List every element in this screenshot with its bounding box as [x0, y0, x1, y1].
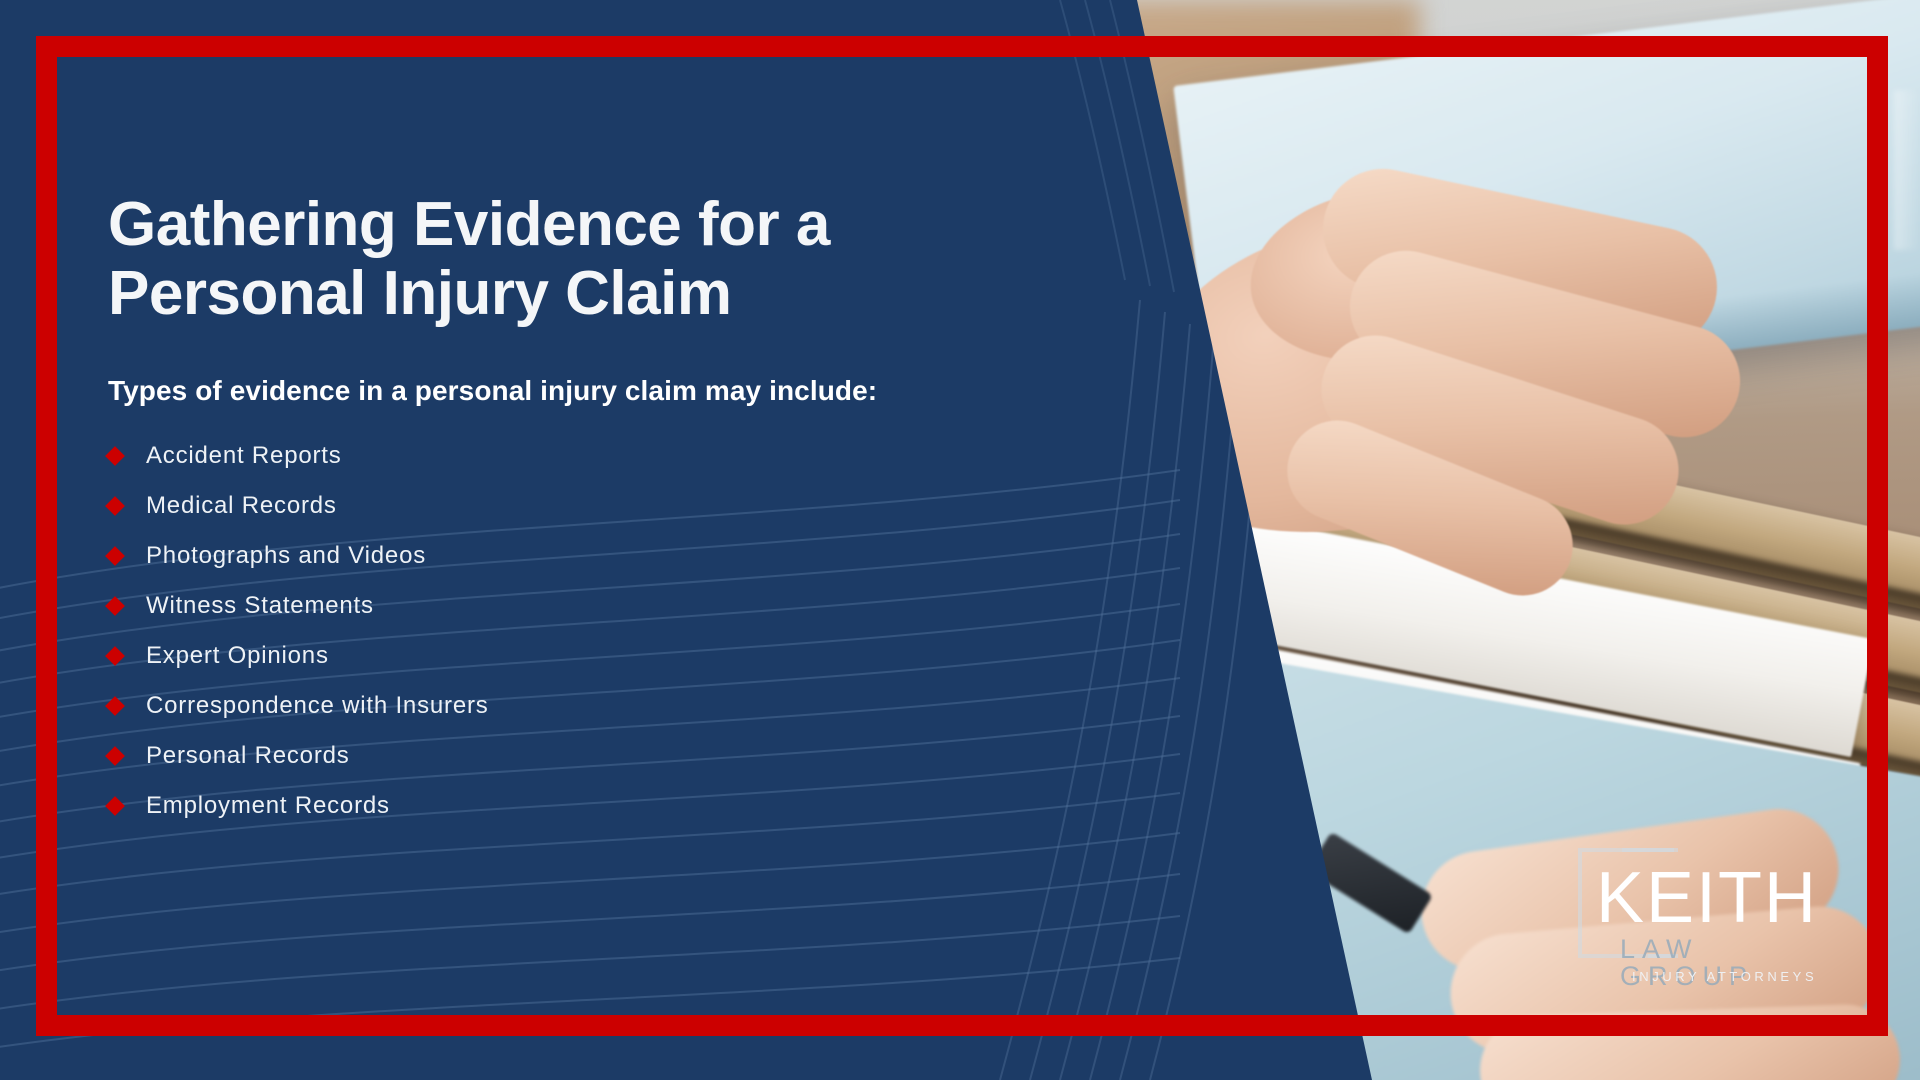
list-item-label: Medical Records: [146, 492, 337, 520]
list-item: Accident Reports: [108, 441, 1048, 471]
evidence-list: Accident Reports Medical Records Photogr…: [108, 441, 1048, 821]
list-item-label: Expert Opinions: [146, 642, 329, 670]
diamond-bullet-icon: [105, 796, 125, 816]
list-item-label: Photographs and Videos: [146, 542, 426, 570]
photo-right-edge-highlight: [1894, 90, 1920, 250]
list-item: Medical Records: [108, 491, 1048, 521]
list-item: Correspondence with Insurers: [108, 691, 1048, 721]
list-item: Employment Records: [108, 791, 1048, 821]
content-block: Gathering Evidence for a Personal Injury…: [108, 190, 1048, 841]
diamond-bullet-icon: [105, 546, 125, 566]
logo-wordmark: KEITH: [1596, 862, 1818, 934]
list-item-label: Personal Records: [146, 742, 350, 770]
diamond-bullet-icon: [105, 496, 125, 516]
subtitle: Types of evidence in a personal injury c…: [108, 375, 1048, 407]
list-item: Expert Opinions: [108, 641, 1048, 671]
list-item-label: Accident Reports: [146, 442, 342, 470]
diamond-bullet-icon: [105, 446, 125, 466]
list-item-label: Witness Statements: [146, 592, 374, 620]
logo-tagline: INJURY ATTORNEYS: [1632, 970, 1817, 983]
diamond-bullet-icon: [105, 646, 125, 666]
list-item: Photographs and Videos: [108, 541, 1048, 571]
keith-law-group-logo: KEITH LAW GROUP INJURY ATTORNEYS: [1566, 848, 1834, 978]
diamond-bullet-icon: [105, 596, 125, 616]
slide-canvas: Gathering Evidence for a Personal Injury…: [0, 0, 1920, 1080]
list-item-label: Correspondence with Insurers: [146, 692, 489, 720]
list-item-label: Employment Records: [146, 792, 390, 820]
list-item: Witness Statements: [108, 591, 1048, 621]
page-title: Gathering Evidence for a Personal Injury…: [108, 190, 1038, 329]
list-item: Personal Records: [108, 741, 1048, 771]
diamond-bullet-icon: [105, 696, 125, 716]
diamond-bullet-icon: [105, 746, 125, 766]
